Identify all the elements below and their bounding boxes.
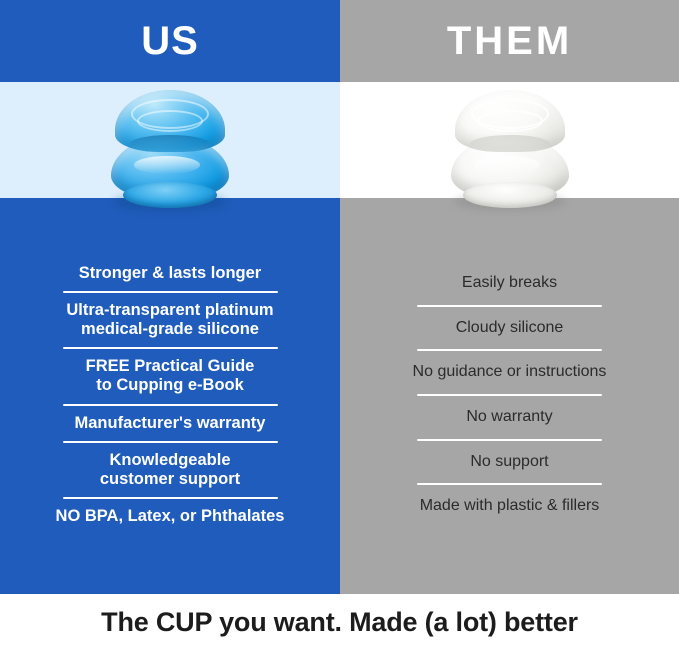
cup-highlight	[474, 156, 540, 174]
product-band-us	[0, 82, 340, 198]
feature-line: No guidance or instructions	[354, 363, 665, 382]
feature-item: No warranty	[354, 396, 665, 439]
feature-line: NO BPA, Latex, or Phthalates	[14, 507, 326, 526]
cup-base-rim	[123, 182, 217, 208]
feature-line: to Cupping e-Book	[14, 376, 326, 395]
feature-list-us: Stronger & lasts longer Ultra-transparen…	[0, 198, 340, 594]
feature-item: FREE Practical Guide to Cupping e-Book	[14, 349, 326, 403]
product-band-them	[340, 82, 679, 198]
cup-highlight	[134, 156, 200, 174]
cloudy-silicone-cupping-cup-icon	[430, 90, 590, 212]
blue-silicone-cupping-cup-icon	[90, 90, 250, 212]
feature-item: Manufacturer's warranty	[14, 406, 326, 441]
feature-item: NO BPA, Latex, or Phthalates	[14, 499, 326, 534]
cup-waist-groove	[470, 135, 550, 153]
feature-line: Stronger & lasts longer	[14, 264, 326, 283]
column-them: THEM Easily breaks	[340, 0, 679, 594]
column-us: US Stronger & lasts longer	[0, 0, 340, 594]
cup-base-rim	[463, 182, 557, 208]
feature-line: Manufacturer's warranty	[14, 414, 326, 433]
feature-item: Stronger & lasts longer	[14, 256, 326, 291]
feature-item: Easily breaks	[354, 262, 665, 305]
feature-line: Cloudy silicone	[354, 319, 665, 338]
column-us-title: US	[141, 21, 199, 61]
feature-line: customer support	[14, 470, 326, 489]
feature-item: Knowledgeable customer support	[14, 443, 326, 497]
comparison-infographic: US Stronger & lasts longer	[0, 0, 679, 650]
feature-line: Made with plastic & fillers	[354, 497, 665, 516]
column-them-title: THEM	[447, 21, 572, 61]
feature-item: Made with plastic & fillers	[354, 485, 665, 528]
comparison-columns: US Stronger & lasts longer	[0, 0, 679, 594]
column-them-header: THEM	[340, 0, 679, 82]
feature-line: FREE Practical Guide	[14, 357, 326, 376]
feature-line: Ultra-transparent platinum	[14, 301, 326, 320]
column-us-header: US	[0, 0, 340, 82]
feature-item: No support	[354, 441, 665, 484]
feature-line: Knowledgeable	[14, 451, 326, 470]
feature-item: No guidance or instructions	[354, 351, 665, 394]
feature-item: Cloudy silicone	[354, 307, 665, 350]
cup-waist-groove	[130, 135, 210, 153]
feature-item: Ultra-transparent platinum medical-grade…	[14, 293, 326, 347]
feature-line: medical-grade silicone	[14, 320, 326, 339]
footer-tagline-bar: The CUP you want. Made (a lot) better	[0, 594, 679, 650]
feature-line: No support	[354, 453, 665, 472]
cup-inner-ridge	[137, 110, 203, 132]
feature-line: No warranty	[354, 408, 665, 427]
cup-inner-ridge	[477, 110, 543, 132]
footer-tagline: The CUP you want. Made (a lot) better	[101, 607, 578, 638]
feature-line: Easily breaks	[354, 274, 665, 293]
feature-list-them: Easily breaks Cloudy silicone No guidanc…	[340, 198, 679, 594]
